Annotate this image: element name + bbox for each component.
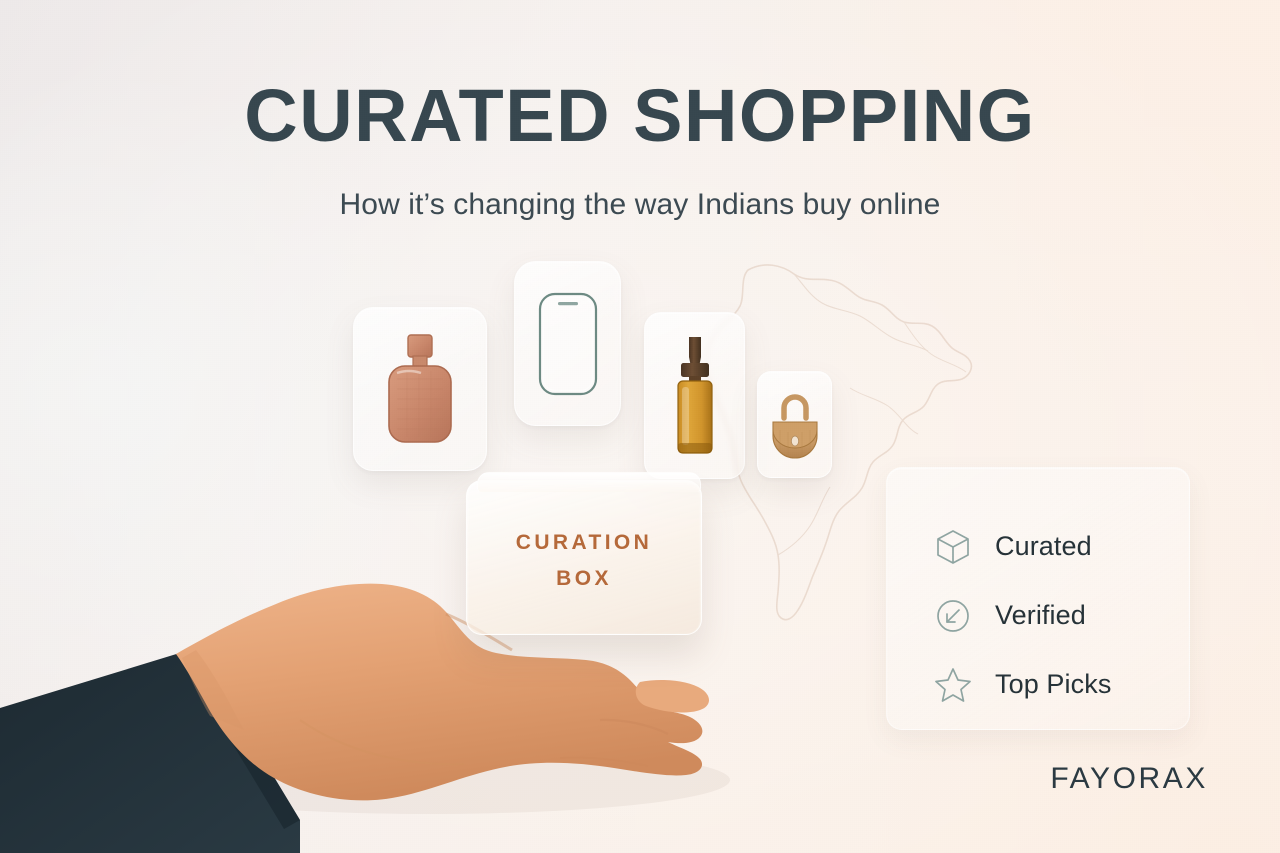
feature-item-top-picks[interactable]: Top Picks — [933, 650, 1189, 719]
curation-box-lid — [477, 472, 701, 492]
dropper-bottle-icon — [670, 335, 720, 457]
cube-icon — [933, 527, 973, 567]
page-title: CURATED SHOPPING — [0, 79, 1280, 153]
feature-panel: Curated Verified Top Picks — [886, 467, 1190, 730]
smartphone-icon — [537, 291, 599, 397]
product-card-perfume[interactable] — [353, 307, 487, 471]
feature-item-verified[interactable]: Verified — [933, 581, 1189, 650]
curation-box-label: CURATION BOX — [467, 525, 701, 597]
product-card-handbag[interactable] — [757, 371, 832, 478]
feature-item-curated[interactable]: Curated — [933, 512, 1189, 581]
page-subtitle: How it’s changing the way Indians buy on… — [0, 188, 1280, 222]
feature-label: Verified — [995, 600, 1086, 631]
curation-box-label-line1: CURATION — [467, 525, 701, 561]
perfume-bottle-icon — [383, 333, 457, 445]
handbag-icon — [766, 388, 824, 462]
feature-label: Curated — [995, 531, 1092, 562]
brand-wordmark: FAYORAX — [1050, 762, 1208, 796]
star-outline-icon — [933, 665, 973, 705]
curation-box-label-line2: BOX — [467, 561, 701, 597]
product-card-dropper-bottle[interactable] — [644, 312, 745, 479]
feature-label: Top Picks — [995, 669, 1111, 700]
circle-arrow-down-left-icon — [933, 596, 973, 636]
curation-box[interactable]: CURATION BOX — [466, 480, 702, 635]
product-card-smartphone[interactable] — [514, 261, 621, 426]
poster-canvas: CURATED SHOPPING How it’s changing the w… — [0, 0, 1280, 853]
